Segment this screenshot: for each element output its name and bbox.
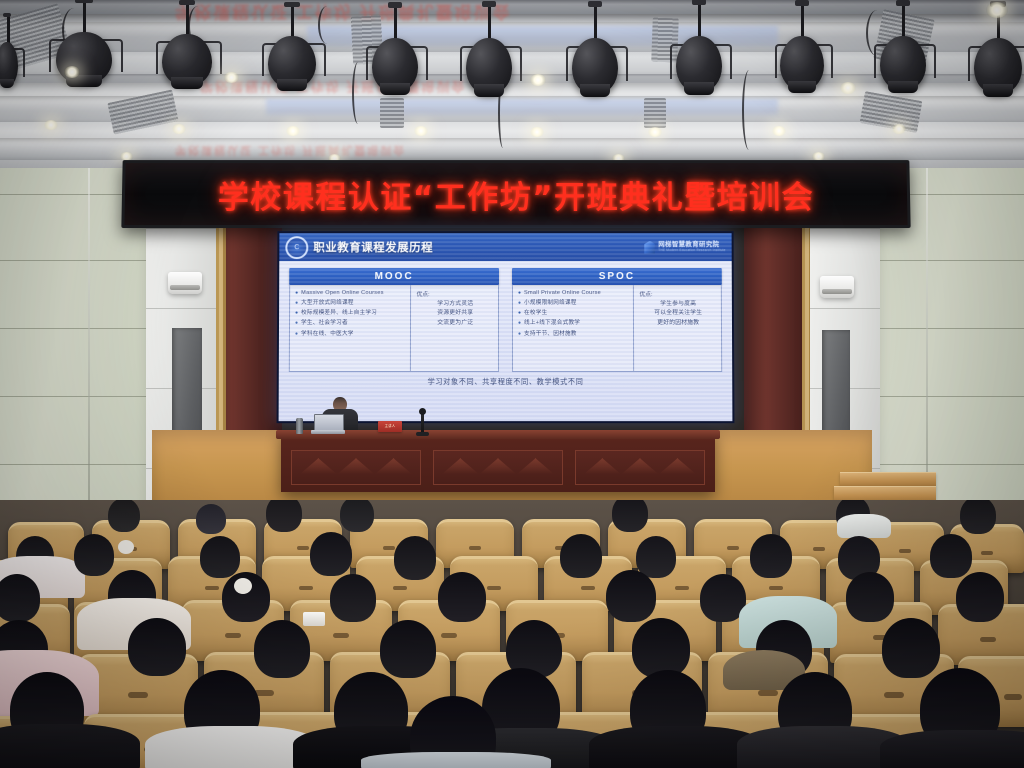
banner-reflection: 学校课程认证 工作坊 开班典礼暨培训会: [175, 1, 511, 26]
list-item: ●支持干节、因材施教: [518, 330, 630, 339]
audience-member: [956, 572, 1004, 622]
microphone: [421, 412, 424, 434]
audience-member: [750, 534, 792, 578]
stage-spotlight: [974, 38, 1022, 94]
spoc-merits: 优点: 学生参与度高 可以全程关注学生 更好的因材施教: [634, 285, 721, 371]
bullet-dot-icon: ●: [518, 289, 521, 298]
mooc-column: MOOC ●Massive Open Online Courses ●大型开放式…: [289, 268, 499, 372]
slide-title: 职业教育课程发展历程: [313, 239, 433, 255]
stage-spotlight: [162, 34, 212, 86]
ceiling-downlight: [530, 127, 544, 137]
list-item: ●线上+线下混合式教学: [518, 319, 630, 328]
bullet-dot-icon: ●: [518, 330, 521, 339]
audience-member: [560, 534, 602, 578]
audience-member: [612, 500, 648, 532]
bullet-dot-icon: ●: [295, 309, 298, 318]
audience-member: [612, 726, 740, 768]
audience-member: [632, 618, 690, 678]
audience-member: [108, 500, 140, 532]
slide-footer-note: 学习对象不同、共享程度不同、教学模式不同: [289, 377, 723, 387]
light-cable: [742, 70, 756, 150]
slide-body: MOOC ●Massive Open Online Courses ●大型开放式…: [279, 261, 733, 387]
bullet-dot-icon: ●: [295, 289, 298, 298]
institution-seal-icon: C: [285, 236, 308, 259]
banner-reflection: 学校课程认证 工作坊 开班典礼暨培训会: [175, 143, 406, 159]
laptop-computer: [311, 414, 345, 434]
spoc-column: SPOC ●Small Private Online Course ●小规模限制…: [512, 268, 722, 372]
stage-spotlight: [0, 42, 18, 86]
bullet-dot-icon: ●: [518, 309, 521, 318]
audience-member: [340, 500, 374, 532]
merit-label: 优点:: [417, 289, 495, 298]
ceiling-band: [0, 138, 1024, 160]
brand-mark-icon: [644, 241, 655, 254]
ceiling-downlight: [648, 127, 662, 137]
ceiling-downlight: [414, 126, 428, 136]
merit-label: 优点:: [639, 289, 717, 298]
bullet-dot-icon: ●: [295, 330, 298, 339]
merit-line: 学生参与度高: [639, 300, 717, 309]
ceiling-downlight: [530, 74, 546, 86]
hair-tie: [234, 578, 252, 594]
brand-logo: 网梯智慧教育研究院 THE Modern Education Research …: [644, 241, 725, 254]
audience-member: [128, 618, 186, 676]
audience-member: [386, 752, 526, 768]
audience-member: [330, 574, 376, 622]
ceiling-downlight: [986, 2, 1008, 18]
audience-member: [394, 536, 436, 580]
bullet-dot-icon: ●: [295, 319, 298, 328]
auditorium-photo: 学校课程认证 工作坊 开班典礼暨培训会 学校课程认证 工作坊 开班典礼暨培训会 …: [0, 0, 1024, 768]
ceiling-downlight: [286, 126, 300, 136]
audience-member: [844, 514, 884, 538]
merit-line: 交流更为广泛: [416, 319, 494, 328]
speaker-name-card: 主讲人: [378, 421, 402, 432]
ceiling-downlight: [172, 124, 186, 134]
light-cable: [352, 62, 364, 124]
stage-spotlight: [56, 32, 112, 84]
left-air-conditioner: [168, 272, 202, 294]
thermos-flask: [296, 418, 303, 434]
ceiling: 学校课程认证 工作坊 开班典礼暨培训会 学校课程认证 工作坊 开班典礼暨培训会 …: [0, 0, 1024, 168]
spoc-bullet-list: ●Small Private Online Course ●小规模限制网络课程 …: [513, 285, 635, 371]
ceiling-beam: [0, 0, 1024, 14]
podium-panel: [291, 450, 421, 485]
audience-member: [266, 500, 302, 532]
spoc-heading: SPOC: [512, 268, 722, 285]
audience-member: [0, 724, 118, 768]
stage-spotlight: [676, 36, 722, 92]
cove-glow: [266, 99, 778, 115]
audience-member: [846, 572, 894, 622]
audience-member: [960, 500, 996, 534]
mooc-bullet-list: ●Massive Open Online Courses ●大型开放式网络课程 …: [290, 285, 412, 371]
stage-spotlight: [780, 36, 824, 90]
stage-spotlight: [268, 36, 316, 88]
stage-spotlight: [880, 36, 926, 90]
audience-member: [254, 620, 310, 678]
audience-member: [760, 726, 886, 768]
stage-spotlight: [466, 38, 512, 94]
event-banner: 学校课程认证“工作坊”开班典礼暨培训会: [121, 160, 910, 228]
audience-member: [904, 730, 1024, 768]
bullet-dot-icon: ●: [295, 299, 298, 308]
podium-desk: [281, 430, 715, 492]
list-item: ●校际规模差异、线上自主学习: [295, 309, 407, 318]
mooc-heading: MOOC: [289, 268, 499, 285]
audience-member: [310, 532, 352, 576]
audience-member: [196, 504, 226, 534]
ceiling-downlight: [892, 124, 906, 134]
merit-line: 学习方式灵活: [416, 300, 494, 309]
merit-line: 更好的因材施教: [639, 319, 717, 328]
stage-spotlight: [572, 38, 618, 94]
bullet-dot-icon: ●: [518, 299, 521, 308]
presentation-slide: C 职业教育课程发展历程 网梯智慧教育研究院 THE Modern Educat…: [279, 233, 733, 421]
list-item: ●在校学生: [518, 309, 630, 318]
podium-panel: [575, 450, 705, 485]
ceiling-downlight: [224, 72, 239, 83]
hair-tie: [118, 540, 134, 554]
audience-member: [0, 574, 40, 622]
light-cable: [318, 6, 336, 44]
podium-panel: [433, 450, 563, 485]
audience-member: [438, 572, 486, 622]
list-item: ●Small Private Online Course: [518, 289, 630, 298]
list-item: ●学科在线、中医大学: [295, 330, 407, 339]
ceiling-downlight: [840, 82, 856, 94]
merit-line: 可以全程关注学生: [639, 309, 717, 318]
laptop-screen: [314, 414, 344, 431]
air-grille: [380, 98, 404, 128]
slide-header: C 职业教育课程发展历程 网梯智慧教育研究院 THE Modern Educat…: [279, 233, 731, 261]
ceiling-downlight: [44, 120, 58, 130]
list-item: ●小规模限制网络课程: [518, 299, 630, 308]
banner-reflection: 学校课程认证 工作坊 开班典礼暨培训会: [200, 78, 466, 97]
ceiling-downlight: [772, 126, 786, 136]
laptop-keyboard: [311, 430, 345, 434]
stage-spotlight: [372, 38, 418, 92]
air-grille: [644, 98, 666, 128]
mooc-merits: 优点: 学习方式灵活 资源更好共享 交流更为广泛: [411, 285, 498, 371]
merit-line: 资源更好共享: [416, 309, 494, 318]
list-item: ●学生、社会学习者: [295, 319, 407, 328]
bullet-dot-icon: ●: [518, 319, 521, 328]
right-air-conditioner: [820, 276, 854, 298]
list-item: ●Massive Open Online Courses: [295, 289, 407, 298]
list-item: ●大型开放式网络课程: [295, 299, 407, 308]
projection-screen: C 职业教育课程发展历程 网梯智慧教育研究院 THE Modern Educat…: [277, 231, 735, 423]
audience-member: [168, 726, 296, 768]
brand-name-en: THE Modern Education Research Institute: [658, 249, 725, 252]
banner-title: 学校课程认证“工作坊”开班典礼暨培训会: [218, 172, 815, 217]
audience-member: [606, 570, 656, 622]
audience-seating: [0, 500, 1024, 768]
audience-member: [380, 620, 436, 678]
name-card-text: 主讲人: [378, 421, 402, 432]
ceiling-downlight: [64, 66, 80, 78]
